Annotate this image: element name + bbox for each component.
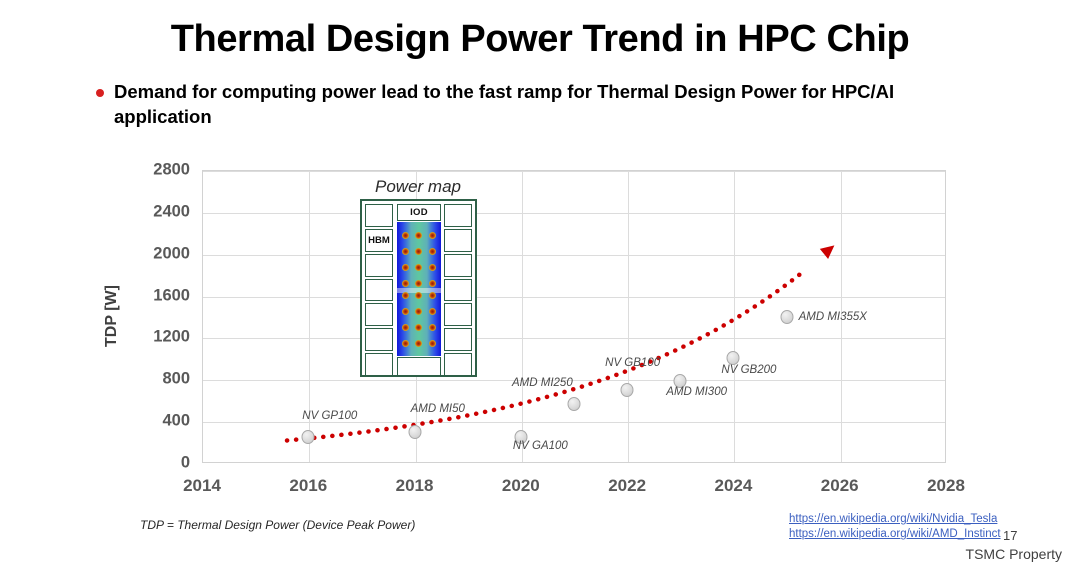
y-axis-title: TDP [W] — [103, 285, 121, 347]
hbm-cell — [444, 279, 472, 302]
y-tick-label: 0 — [130, 454, 190, 473]
hotspot — [402, 340, 409, 347]
data-point-marker — [621, 383, 634, 397]
hotspot — [402, 264, 409, 271]
data-point-marker — [727, 351, 740, 365]
data-point-label: NV GP100 — [302, 410, 357, 422]
hotspot — [415, 292, 422, 299]
hotspot — [429, 280, 436, 287]
x-tick-label: 2024 — [715, 476, 753, 496]
hbm-stack-right — [444, 204, 472, 376]
data-point-label: NV GB100 — [605, 357, 660, 369]
x-tick-label: 2016 — [289, 476, 327, 496]
hotspot — [415, 324, 422, 331]
x-tick-label: 2018 — [396, 476, 434, 496]
y-tick-label: 2400 — [130, 202, 190, 221]
y-tick-label: 2800 — [130, 161, 190, 180]
data-point-label: AMD MI250 — [512, 377, 573, 389]
gridline-horizontal — [203, 171, 945, 172]
data-point-label: NV GA100 — [513, 440, 568, 452]
iod-power-heatmap — [397, 222, 441, 356]
gridline-horizontal — [203, 297, 945, 298]
data-point-label: AMD MI50 — [411, 403, 465, 415]
hotspot — [415, 340, 422, 347]
hbm-cell — [444, 254, 472, 277]
hotspot — [402, 308, 409, 315]
power-map-title: Power map — [375, 177, 461, 197]
hotspot — [429, 340, 436, 347]
hbm-cell — [365, 279, 393, 302]
gridline-horizontal — [203, 380, 945, 381]
gridline-vertical — [522, 171, 523, 462]
y-tick-label: 1200 — [130, 328, 190, 347]
hotspot — [429, 232, 436, 239]
hbm-cell — [444, 328, 472, 351]
hbm-cell — [444, 353, 472, 376]
iod-label: IOD — [397, 204, 441, 221]
hotspot — [429, 324, 436, 331]
data-point-marker — [568, 397, 581, 411]
hotspot — [429, 264, 436, 271]
hotspot — [402, 324, 409, 331]
y-tick-label: 400 — [130, 412, 190, 431]
hotspot — [415, 264, 422, 271]
hotspot-grid-top — [401, 229, 437, 289]
hbm-cell — [444, 229, 472, 252]
gridline-horizontal — [203, 255, 945, 256]
y-tick-label: 2000 — [130, 244, 190, 263]
hbm-cell — [365, 353, 393, 376]
data-point-label: AMD MI300 — [666, 386, 727, 398]
x-tick-label: 2014 — [183, 476, 221, 496]
data-point-marker — [780, 310, 793, 324]
source-link-nvidia-tesla[interactable]: https://en.wikipedia.org/wiki/Nvidia_Tes… — [789, 512, 1001, 527]
hotspot — [429, 292, 436, 299]
hotspot — [429, 248, 436, 255]
x-tick-label: 2022 — [608, 476, 646, 496]
hotspot — [402, 280, 409, 287]
data-point-label: AMD MI355X — [799, 311, 867, 323]
hbm-cell — [365, 254, 393, 277]
hotspot — [429, 308, 436, 315]
slide: Thermal Design Power Trend in HPC Chip D… — [0, 0, 1080, 568]
y-tick-label: 1600 — [130, 286, 190, 305]
hbm-cell — [365, 328, 393, 351]
gridline-vertical — [628, 171, 629, 462]
source-link-amd-instinct[interactable]: https://en.wikipedia.org/wiki/AMD_Instin… — [789, 527, 1001, 542]
power-map-inset: HBM IOD — [360, 199, 477, 377]
hbm-stack-left: HBM — [365, 204, 393, 376]
hbm-cell — [365, 303, 393, 326]
data-point-label: NV GB200 — [721, 364, 776, 376]
hotspot — [415, 232, 422, 239]
data-point-marker — [302, 430, 315, 444]
x-tick-label: 2020 — [502, 476, 540, 496]
gridline-vertical — [734, 171, 735, 462]
x-tick-label: 2026 — [821, 476, 859, 496]
hotspot — [402, 232, 409, 239]
iod-die: IOD — [397, 204, 441, 376]
hotspot — [415, 248, 422, 255]
tdp-trend-chart: TDP [W] 040080012001600200024002800 2014… — [0, 0, 1080, 568]
gridline-horizontal — [203, 213, 945, 214]
gridline-horizontal — [203, 422, 945, 423]
hotspot — [402, 248, 409, 255]
hbm-cell-labeled: HBM — [365, 229, 393, 252]
footnote-tdp-definition: TDP = Thermal Design Power (Device Peak … — [140, 518, 415, 532]
hbm-cell — [444, 204, 472, 227]
hotspot — [415, 308, 422, 315]
y-tick-label: 800 — [130, 370, 190, 389]
iod-footer-block — [397, 357, 441, 376]
hotspot — [415, 280, 422, 287]
x-tick-label: 2028 — [927, 476, 965, 496]
property-notice: TSMC Property — [966, 546, 1062, 562]
gridline-horizontal — [203, 338, 945, 339]
hbm-cell — [365, 204, 393, 227]
source-links[interactable]: https://en.wikipedia.org/wiki/Nvidia_Tes… — [789, 512, 1001, 543]
hbm-cell — [444, 303, 472, 326]
hotspot — [402, 292, 409, 299]
data-point-marker — [408, 425, 421, 439]
page-number: 17 — [1003, 528, 1017, 543]
hotspot-grid-bottom — [401, 289, 437, 349]
